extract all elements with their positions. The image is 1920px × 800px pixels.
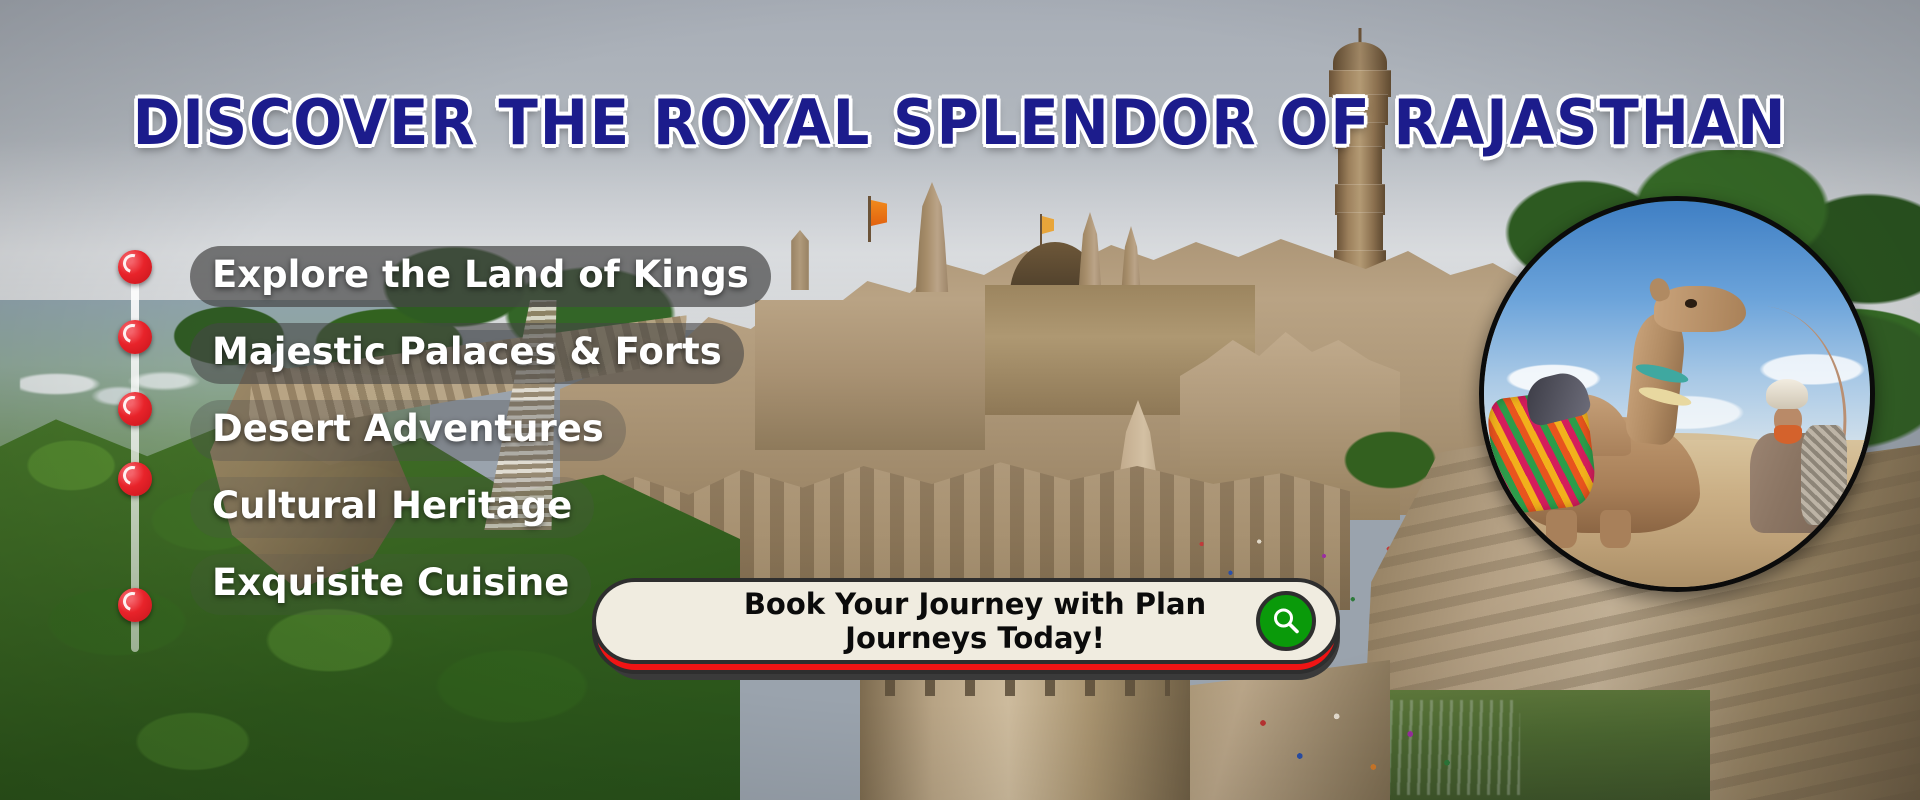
timeline-pin-2 (118, 320, 152, 354)
timeline-pin-4 (118, 462, 152, 496)
saffron-flag (868, 196, 871, 242)
book-journey-button[interactable]: Book Your Journey with Plan Journeys Tod… (592, 578, 1340, 664)
saffron-flag (1040, 214, 1042, 248)
page-title: DISCOVER THE ROYAL SPLENDOR OF RAJASTHAN (67, 88, 1853, 158)
cta-label-line2: Journeys Today! (845, 621, 1105, 655)
feature-list: Explore the Land of Kings Majestic Palac… (190, 246, 830, 631)
travel-hero-banner: DISCOVER THE ROYAL SPLENDOR OF RAJASTHAN… (0, 0, 1920, 800)
herder-shawl (1801, 425, 1847, 525)
camel-leg (1600, 510, 1631, 549)
visitor-crowd (1240, 690, 1470, 800)
herder-turban (1766, 379, 1808, 410)
feature-item-majestic-palaces-and-forts[interactable]: Majestic Palaces & Forts (190, 323, 744, 384)
feature-item-cultural-heritage[interactable]: Cultural Heritage (190, 477, 594, 538)
timeline-pin-3 (118, 392, 152, 426)
feature-item-explore-the-land-of-kings[interactable]: Explore the Land of Kings (190, 246, 771, 307)
feature-item-exquisite-cuisine[interactable]: Exquisite Cuisine (190, 554, 591, 615)
cta-label: Book Your Journey with Plan Journeys Tod… (675, 587, 1275, 655)
search-icon[interactable] (1256, 591, 1316, 651)
camel-photo-inset (1479, 196, 1875, 592)
feature-item-desert-adventures[interactable]: Desert Adventures (190, 400, 626, 461)
timeline-pin-1 (118, 250, 152, 284)
cta-button-group: Book Your Journey with Plan Journeys Tod… (592, 578, 1348, 678)
timeline-pin-5 (118, 588, 152, 622)
camel-eye (1685, 299, 1697, 307)
camel-leg (1546, 510, 1577, 549)
cta-label-line1: Book Your Journey with Plan (744, 587, 1206, 621)
